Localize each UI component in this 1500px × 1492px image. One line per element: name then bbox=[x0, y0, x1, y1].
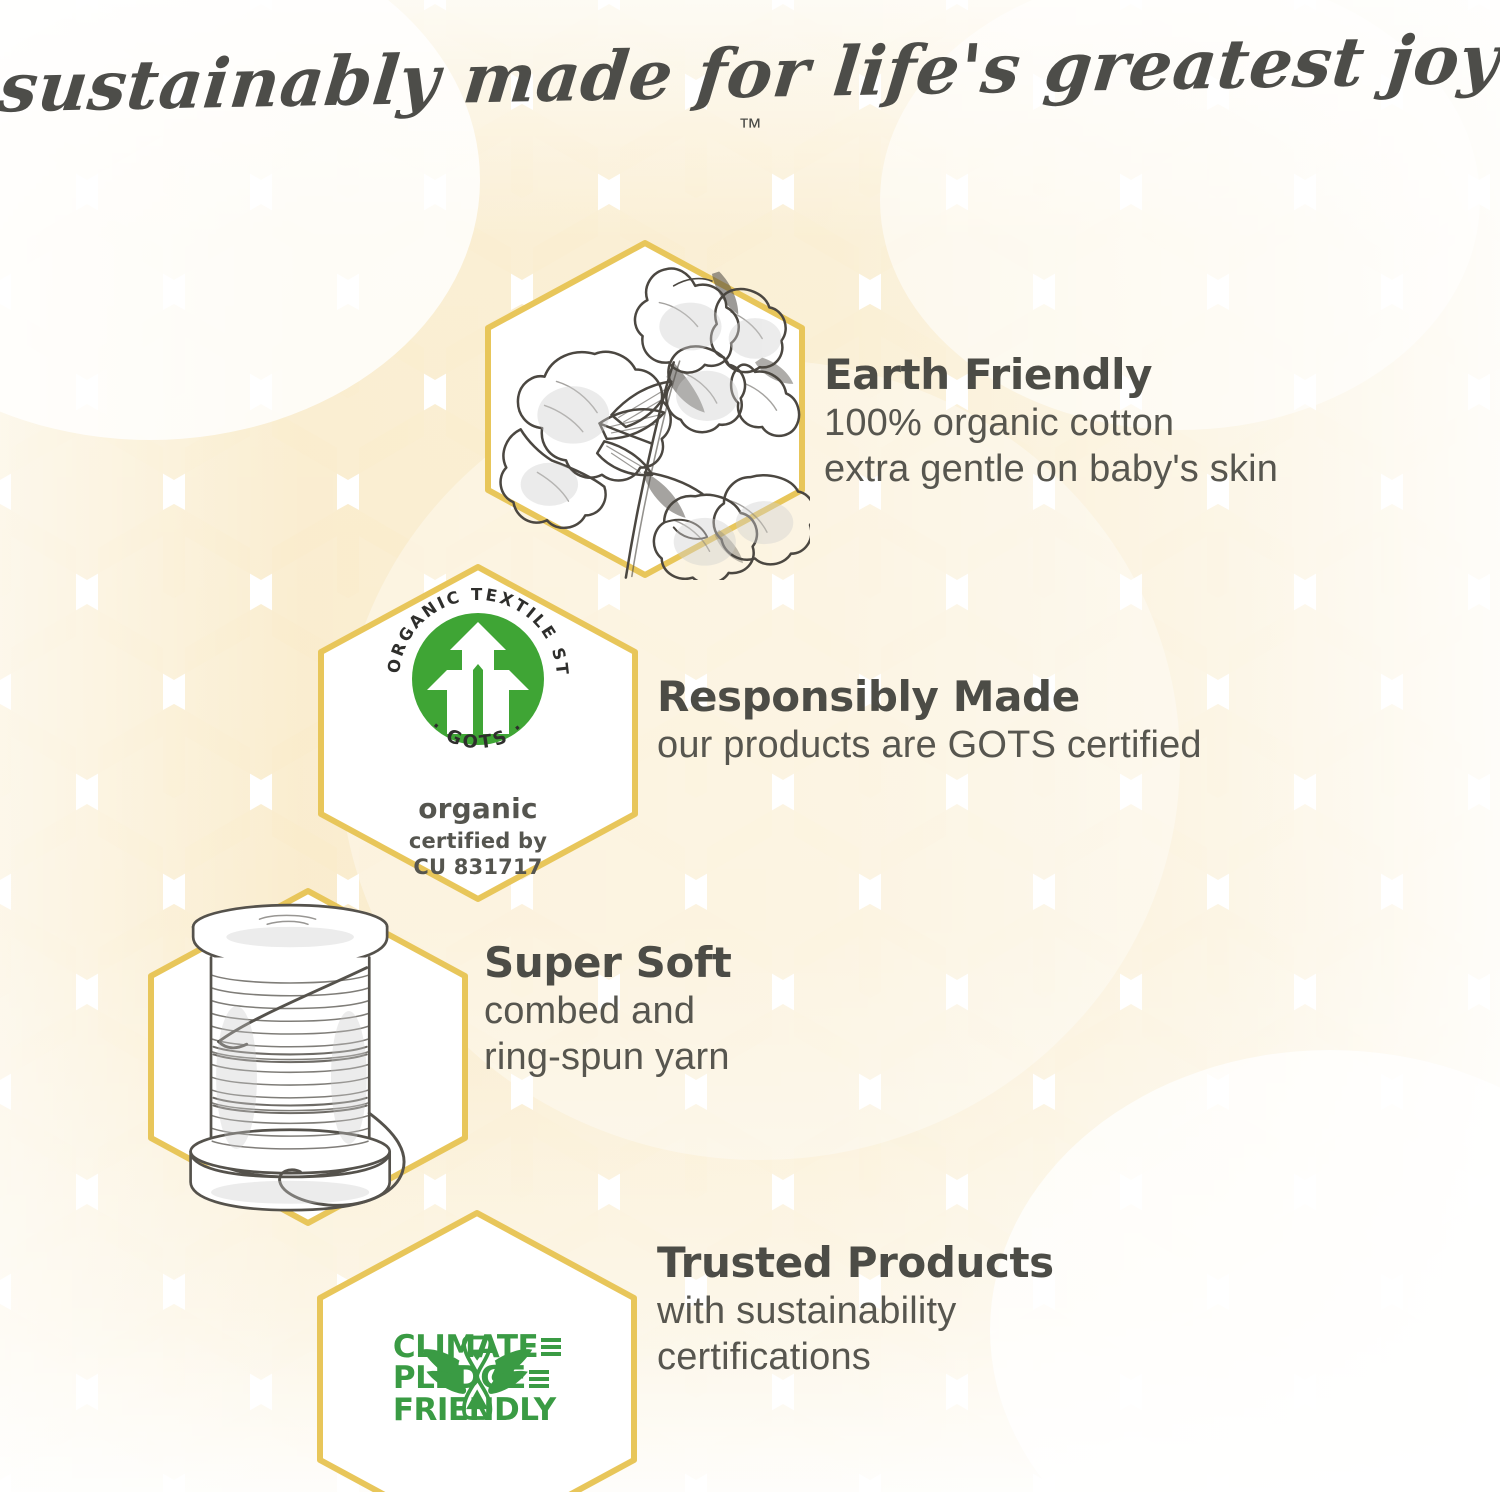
gots-certifier-code: CU 831717 bbox=[409, 855, 547, 881]
feature-line-1: with sustainability bbox=[657, 1289, 1054, 1335]
feature-hexagon-earth-friendly bbox=[480, 238, 810, 580]
feature-line-2: extra gentle on baby's skin bbox=[824, 447, 1278, 493]
feature-title-earth-friendly: Earth Friendly bbox=[824, 352, 1278, 397]
feature-line-2: certifications bbox=[657, 1335, 1054, 1381]
feature-line-1: 100% organic cotton bbox=[824, 401, 1278, 447]
thread-spool-sketch-icon bbox=[143, 886, 473, 1228]
gots-certified-by-label: certified by bbox=[409, 829, 547, 855]
feature-hexagon-trusted-products: CLIMATE PLEDGE FRIENDLY bbox=[312, 1208, 642, 1492]
feature-title-responsibly-made: Responsibly Made bbox=[657, 674, 1202, 719]
gots-organic-label: organic bbox=[418, 792, 538, 825]
feature-title-trusted-products: Trusted Products bbox=[657, 1240, 1054, 1285]
winged-hourglass-icon bbox=[393, 1332, 561, 1427]
headline-text: sustainably made for life's greatest joy bbox=[0, 20, 1500, 129]
feature-title-super-soft: Super Soft bbox=[484, 940, 732, 985]
cotton-boll-sketch-icon bbox=[480, 238, 810, 580]
feature-text-trusted-products: Trusted Products with sustainability cer… bbox=[657, 1240, 1054, 1381]
climate-pledge-friendly-icon: CLIMATE PLEDGE FRIENDLY bbox=[393, 1332, 561, 1427]
feature-text-super-soft: Super Soft combed and ring-spun yarn bbox=[484, 940, 732, 1081]
feature-line-1: our products are GOTS certified bbox=[657, 723, 1202, 769]
gots-organic-certification-icon: GLOBAL ORGANIC TEXTILE STANDARD · GOTS · bbox=[373, 574, 583, 784]
feature-text-responsibly-made: Responsibly Made our products are GOTS c… bbox=[657, 674, 1202, 769]
feature-line-2: ring-spun yarn bbox=[484, 1035, 732, 1081]
feature-text-earth-friendly: Earth Friendly 100% organic cotton extra… bbox=[824, 352, 1278, 493]
page-headline: sustainably made for life's greatest joy… bbox=[0, 34, 1500, 146]
feature-line-1: combed and bbox=[484, 989, 732, 1035]
infographic-canvas: sustainably made for life's greatest joy… bbox=[0, 0, 1500, 1492]
feature-hexagon-super-soft bbox=[143, 886, 473, 1228]
trademark-symbol: ™ bbox=[738, 114, 762, 141]
feature-hexagon-responsibly-made: GLOBAL ORGANIC TEXTILE STANDARD · GOTS ·… bbox=[313, 562, 643, 904]
